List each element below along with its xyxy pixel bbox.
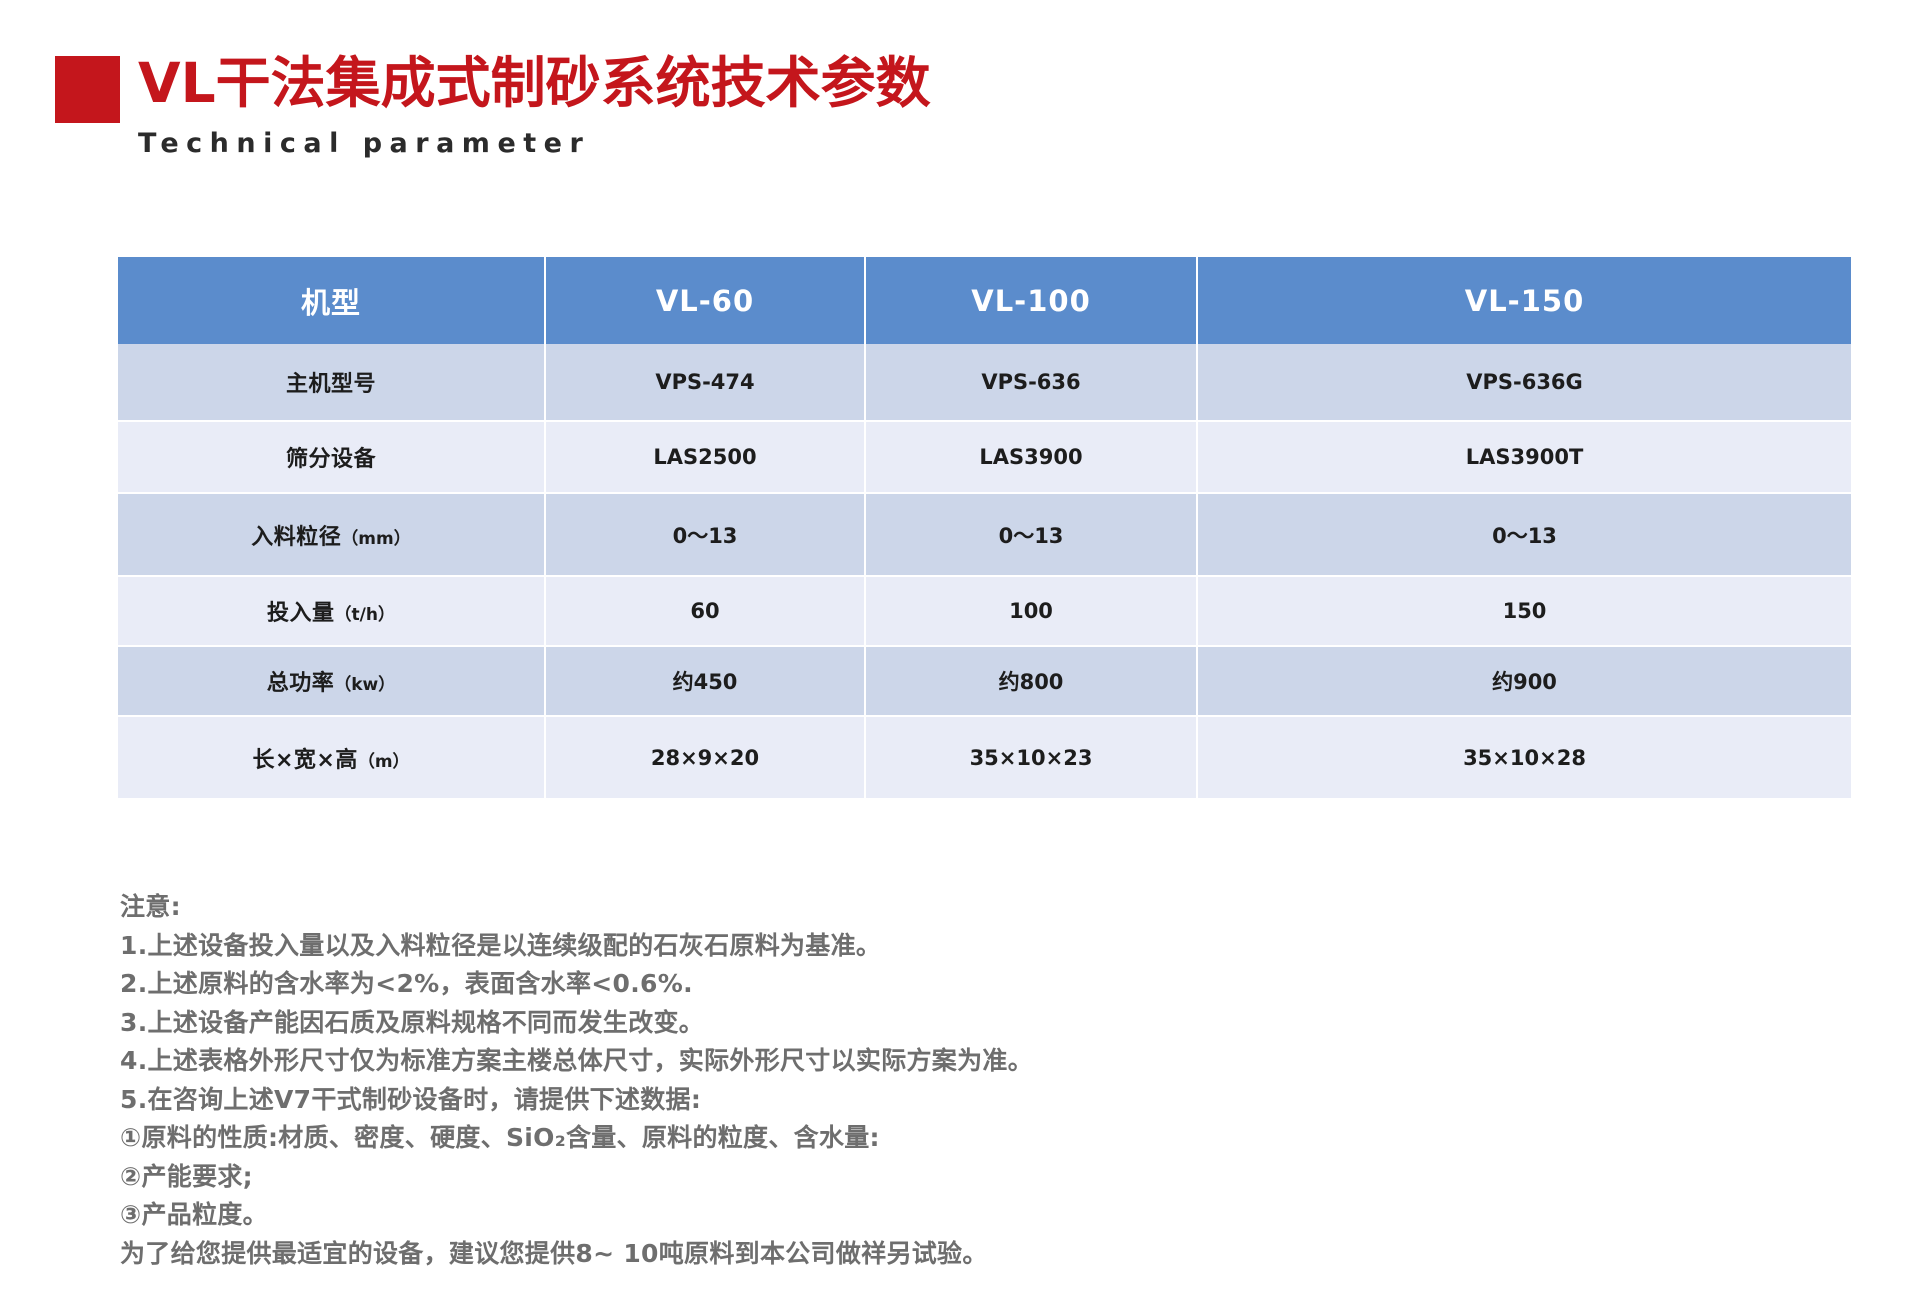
page-title: VL干法集成式制砂系统技术参数: [138, 52, 931, 114]
red-accent-block: [55, 56, 120, 123]
notes-heading: 注意:: [120, 888, 1620, 927]
row-label-cell: 长×宽×高（m）: [118, 716, 545, 799]
cell-vl100: 0～13: [865, 493, 1197, 576]
note-line-8: ③产品粒度。: [120, 1196, 1620, 1235]
row-label: 主机型号: [286, 372, 376, 397]
row-label-cell: 主机型号: [118, 344, 545, 421]
col-header-vl60: VL-60: [545, 257, 865, 344]
cell-vl60: LAS2500: [545, 421, 865, 493]
table-row: 投入量（t/h） 60 100 150: [118, 576, 1851, 646]
table-header-row: 机型 VL-60 VL-100 VL-150: [118, 257, 1851, 344]
row-label-cell: 投入量（t/h）: [118, 576, 545, 646]
col-header-vl150: VL-150: [1197, 257, 1851, 344]
cell-vl150: 35×10×28: [1197, 716, 1851, 799]
row-label-cell: 入料粒径（mm）: [118, 493, 545, 576]
row-unit: （kw）: [334, 675, 395, 695]
cell-vl150: VPS-636G: [1197, 344, 1851, 421]
table-row: 入料粒径（mm） 0～13 0～13 0～13: [118, 493, 1851, 576]
col-header-vl100: VL-100: [865, 257, 1197, 344]
row-label: 入料粒径: [251, 525, 341, 550]
row-label-cell: 总功率（kw）: [118, 646, 545, 716]
cell-vl150: 约900: [1197, 646, 1851, 716]
row-label: 筛分设备: [286, 447, 376, 472]
cell-vl60: 28×9×20: [545, 716, 865, 799]
spec-table: 机型 VL-60 VL-100 VL-150 主机型号 VPS-474 VPS-…: [118, 257, 1851, 800]
row-unit: （m）: [358, 752, 410, 772]
note-line-9: 为了给您提供最适宜的设备，建议您提供8~ 10吨原料到本公司做祥另试验。: [120, 1235, 1620, 1274]
col-header-model: 机型: [118, 257, 545, 344]
page-header: VL干法集成式制砂系统技术参数 Technical parameter: [55, 52, 1455, 161]
table-body: 主机型号 VPS-474 VPS-636 VPS-636G 筛分设备 LAS25…: [118, 344, 1851, 799]
row-unit: （t/h）: [335, 605, 395, 625]
cell-vl60: VPS-474: [545, 344, 865, 421]
table-row: 总功率（kw） 约450 约800 约900: [118, 646, 1851, 716]
cell-vl60: 60: [545, 576, 865, 646]
row-label: 投入量: [267, 601, 335, 626]
cell-vl100: 100: [865, 576, 1197, 646]
cell-vl150: LAS3900T: [1197, 421, 1851, 493]
cell-vl100: 约800: [865, 646, 1197, 716]
row-label-cell: 筛分设备: [118, 421, 545, 493]
cell-vl100: LAS3900: [865, 421, 1197, 493]
note-line-1: 1.上述设备投入量以及入料粒径是以连续级配的石灰石原料为基准。: [120, 927, 1620, 966]
row-label: 长×宽×高: [252, 748, 357, 773]
cell-vl60: 约450: [545, 646, 865, 716]
table-row: 长×宽×高（m） 28×9×20 35×10×23 35×10×28: [118, 716, 1851, 799]
spec-table-container: 机型 VL-60 VL-100 VL-150 主机型号 VPS-474 VPS-…: [118, 257, 1851, 800]
cell-vl100: 35×10×23: [865, 716, 1197, 799]
table-row: 筛分设备 LAS2500 LAS3900 LAS3900T: [118, 421, 1851, 493]
page-subtitle: Technical parameter: [138, 127, 1455, 161]
note-line-4: 4.上述表格外形尺寸仅为标准方案主楼总体尺寸，实际外形尺寸以实际方案为准。: [120, 1042, 1620, 1081]
note-line-3: 3.上述设备产能因石质及原料规格不同而发生改变。: [120, 1004, 1620, 1043]
cell-vl150: 0～13: [1197, 493, 1851, 576]
row-unit: （mm）: [341, 529, 410, 549]
row-label: 总功率: [267, 671, 335, 696]
note-line-5: 5.在咨询上述V7干式制砂设备时，请提供下述数据:: [120, 1081, 1620, 1120]
table-row: 主机型号 VPS-474 VPS-636 VPS-636G: [118, 344, 1851, 421]
note-line-2: 2.上述原料的含水率为<2%，表面含水率<0.6%.: [120, 965, 1620, 1004]
notes-block: 注意: 1.上述设备投入量以及入料粒径是以连续级配的石灰石原料为基准。 2.上述…: [120, 888, 1620, 1273]
title-row: VL干法集成式制砂系统技术参数: [55, 52, 1455, 123]
table-header: 机型 VL-60 VL-100 VL-150: [118, 257, 1851, 344]
note-line-7: ②产能要求;: [120, 1158, 1620, 1197]
note-line-6: ①原料的性质:材质、密度、硬度、SiO₂含量、原料的粒度、含水量:: [120, 1119, 1620, 1158]
cell-vl100: VPS-636: [865, 344, 1197, 421]
cell-vl60: 0～13: [545, 493, 865, 576]
cell-vl150: 150: [1197, 576, 1851, 646]
